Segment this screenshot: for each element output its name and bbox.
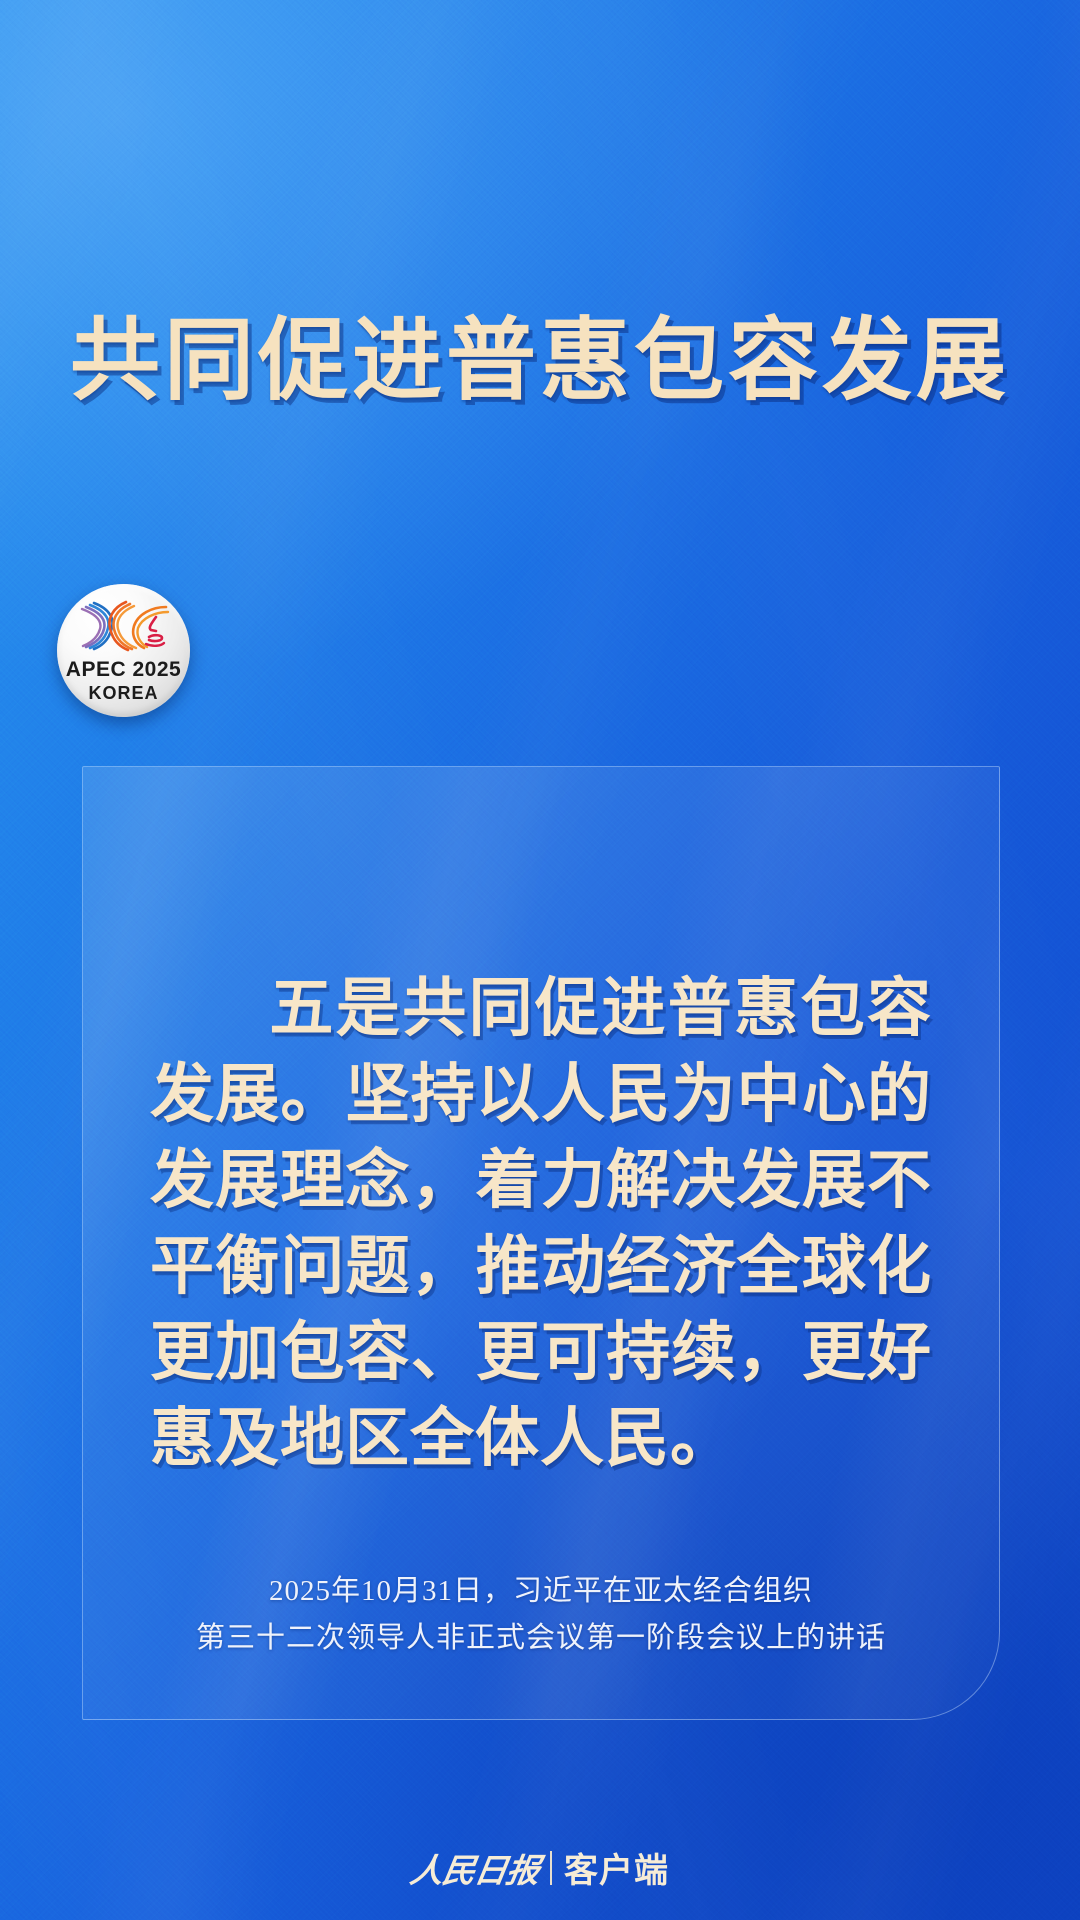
attribution-line-2: 第三十二次领导人非正式会议第一阶段会议上的讲话 <box>82 1615 1000 1662</box>
apec-badge-event: APEC 2025 <box>66 659 181 680</box>
attribution: 2025年10月31日，习近平在亚太经合组织 第三十二次领导人非正式会议第一阶段… <box>82 1568 1000 1662</box>
quote-body-content: 五是共同促进普惠包容发展。坚持以人民为中心的发展理念，着力解决发展不平衡问题，推… <box>150 973 932 1474</box>
page-title: 共同促进普惠包容发展 <box>0 312 1080 411</box>
poster-root: 共同促进普惠包容发展 <box>0 0 1080 1920</box>
footer-divider <box>550 1851 552 1885</box>
apec-badge: APEC 2025 KOREA <box>57 584 190 717</box>
apec-badge-host: KOREA <box>88 684 158 702</box>
quote-body-text: 五是共同促进普惠包容发展。坚持以人民为中心的发展理念，着力解决发展不平衡问题，推… <box>82 966 1000 1482</box>
attribution-line-1: 2025年10月31日，习近平在亚太经合组织 <box>82 1568 1000 1615</box>
product-name: 客户端 <box>552 1843 669 1892</box>
footer-brand: 人民日报 客户端 <box>0 1843 1080 1892</box>
apec-emblem-icon <box>76 597 172 658</box>
publisher-logo: 人民日报 <box>407 1844 554 1892</box>
